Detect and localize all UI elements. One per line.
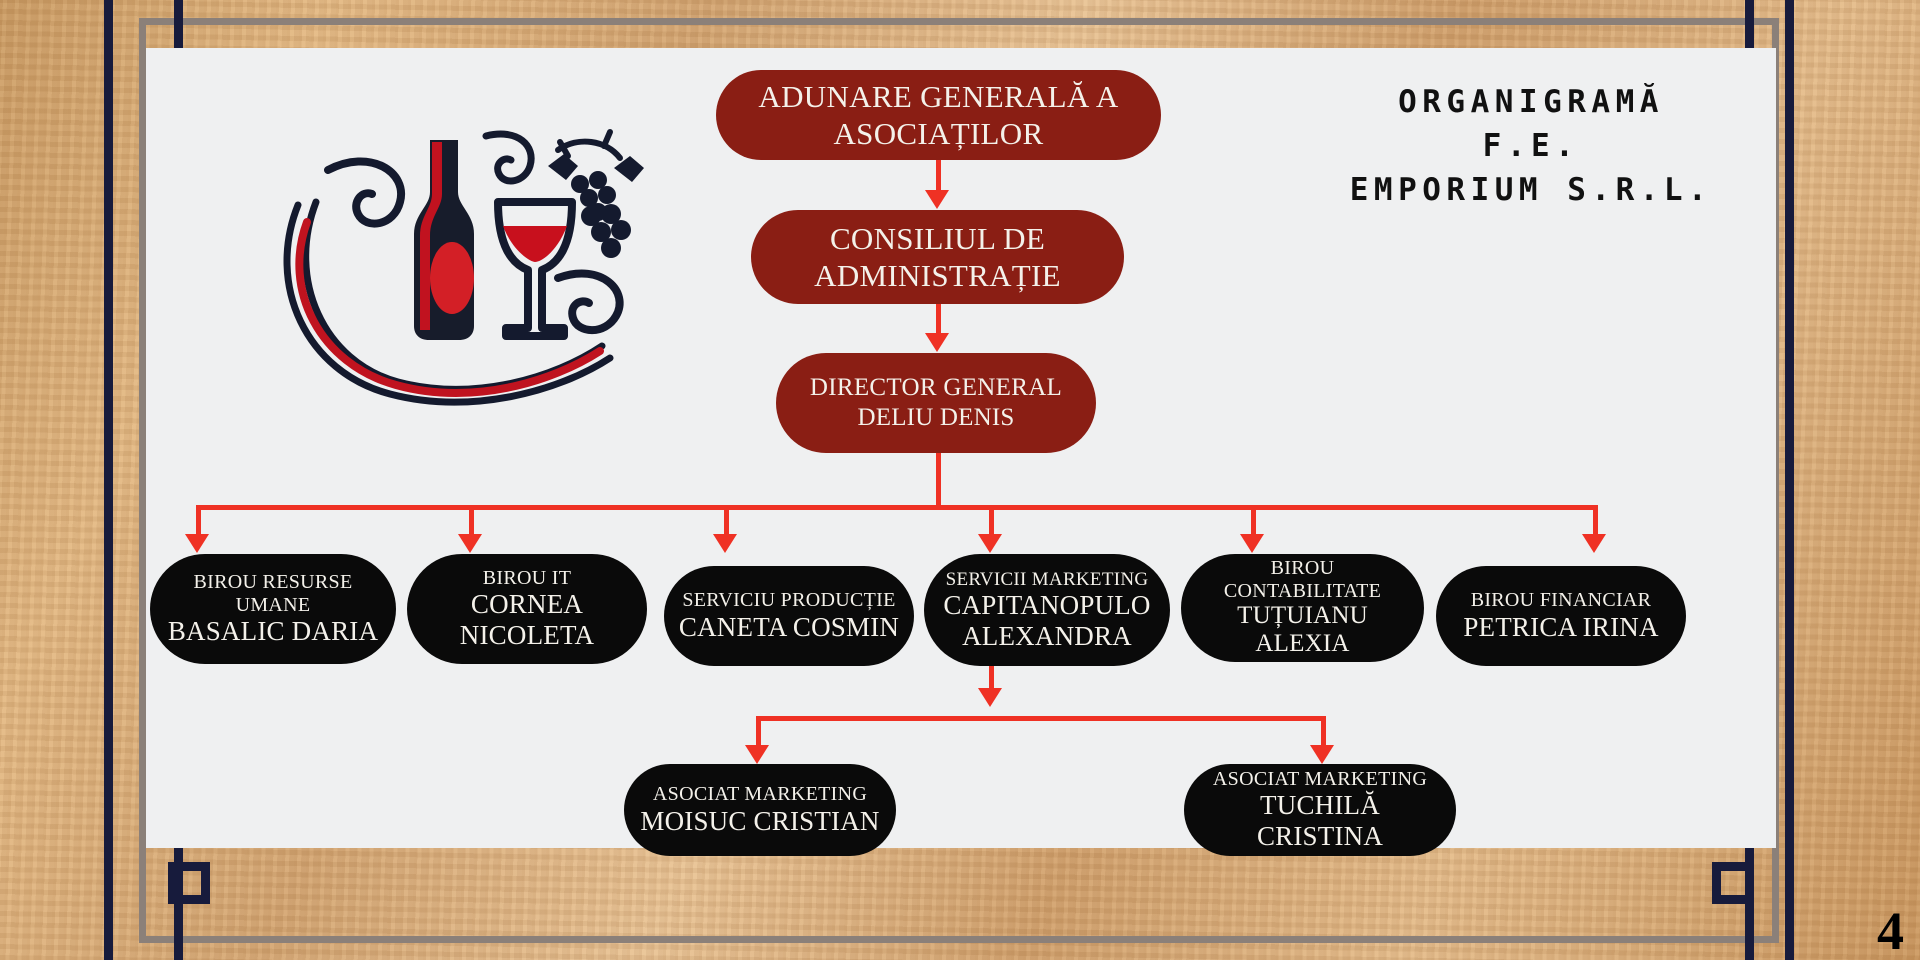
edge-director-bus (936, 453, 941, 509)
arrow-resurse-umane (185, 534, 209, 553)
edge-drop-asociat-2 (1321, 716, 1326, 748)
node-role: DIRECTOR GENERAL (810, 373, 1062, 403)
wine-bottle-glass-grapes-logo (258, 110, 648, 410)
arrow-marketing (978, 534, 1002, 553)
corner-square-bottom-right (1712, 862, 1754, 904)
node-role: SERVICIU PRODUCȚIE (682, 589, 895, 611)
edge-drop-asociat-1 (756, 716, 761, 748)
arrow-marketing-down (978, 688, 1002, 707)
node-role: BIROU FINANCIAR (1471, 589, 1652, 611)
page-title: ORGANIGRAMĂ F.E. EMPORIUM S.R.L. (1306, 80, 1756, 212)
node-servicii-marketing[interactable]: SERVICII MARKETING CAPITANOPULO ALEXANDR… (924, 554, 1170, 666)
node-person: TUCHILĂ CRISTINA (1194, 790, 1446, 852)
arrow-productie (713, 534, 737, 553)
arrow-asociat-2 (1310, 745, 1334, 764)
node-birou-it[interactable]: BIROU IT CORNEA NICOLETA (407, 554, 647, 664)
node-adunare-generala[interactable]: ADUNARE GENERALĂ A ASOCIAȚILOR (716, 70, 1161, 160)
node-person: CANETA COSMIN (679, 612, 899, 643)
arrow-financiar (1582, 534, 1606, 553)
slide-canvas: ORGANIGRAMĂ F.E. EMPORIUM S.R.L. ADUNARE… (0, 0, 1920, 960)
arrow-birou-it (458, 534, 482, 553)
node-person: TUȚUIANU ALEXIA (1191, 602, 1414, 659)
node-role: SERVICII MARKETING (946, 569, 1149, 590)
node-role: BIROU IT (483, 567, 572, 589)
corner-square-bottom-left (168, 862, 210, 904)
node-serviciu-productie[interactable]: SERVICIU PRODUCȚIE CANETA COSMIN (664, 566, 914, 666)
arrow-contabilitate (1240, 534, 1264, 553)
node-person: CORNEA NICOLETA (460, 589, 594, 651)
node-birou-resurse-umane[interactable]: BIROU RESURSE UMANE BASALIC DARIA (150, 554, 396, 664)
page-number: 4 (1877, 904, 1904, 958)
arrow-consiliu-director (925, 333, 949, 352)
node-person: CAPITANOPULO ALEXANDRA (943, 590, 1150, 652)
node-role: ASOCIAT MARKETING (1213, 768, 1427, 790)
node-person: PETRICA IRINA (1463, 612, 1658, 643)
node-role: CONSILIUL DE ADMINISTRAȚIE (814, 220, 1061, 294)
node-role: BIROU CONTABILITATE (1224, 557, 1381, 602)
node-role: ADUNARE GENERALĂ A ASOCIAȚILOR (758, 78, 1118, 152)
node-asociat-marketing-tuchila[interactable]: ASOCIAT MARKETING TUCHILĂ CRISTINA (1184, 764, 1456, 856)
node-role: BIROU RESURSE UMANE (194, 571, 353, 616)
node-person: DELIU DENIS (857, 403, 1014, 433)
arrow-asociat-1 (745, 745, 769, 764)
node-asociat-marketing-moisuc[interactable]: ASOCIAT MARKETING MOISUC CRISTIAN (624, 764, 896, 856)
node-person: MOISUC CRISTIAN (640, 806, 879, 837)
edge-consiliu-director (936, 304, 941, 336)
arrow-adunare-consiliu (925, 190, 949, 209)
edge-associate-bus (756, 716, 1326, 721)
node-person: BASALIC DARIA (168, 616, 378, 647)
edge-department-bus (196, 505, 1596, 510)
node-role: ASOCIAT MARKETING (653, 783, 867, 805)
node-birou-contabilitate[interactable]: BIROU CONTABILITATE TUȚUIANU ALEXIA (1181, 554, 1424, 662)
node-director-general[interactable]: DIRECTOR GENERAL DELIU DENIS (776, 353, 1096, 453)
edge-adunare-consiliu (936, 160, 941, 194)
node-consiliu-administratie[interactable]: CONSILIUL DE ADMINISTRAȚIE (751, 210, 1124, 304)
node-birou-financiar[interactable]: BIROU FINANCIAR PETRICA IRINA (1436, 566, 1686, 666)
diagram-canvas: ORGANIGRAMĂ F.E. EMPORIUM S.R.L. ADUNARE… (146, 48, 1776, 848)
